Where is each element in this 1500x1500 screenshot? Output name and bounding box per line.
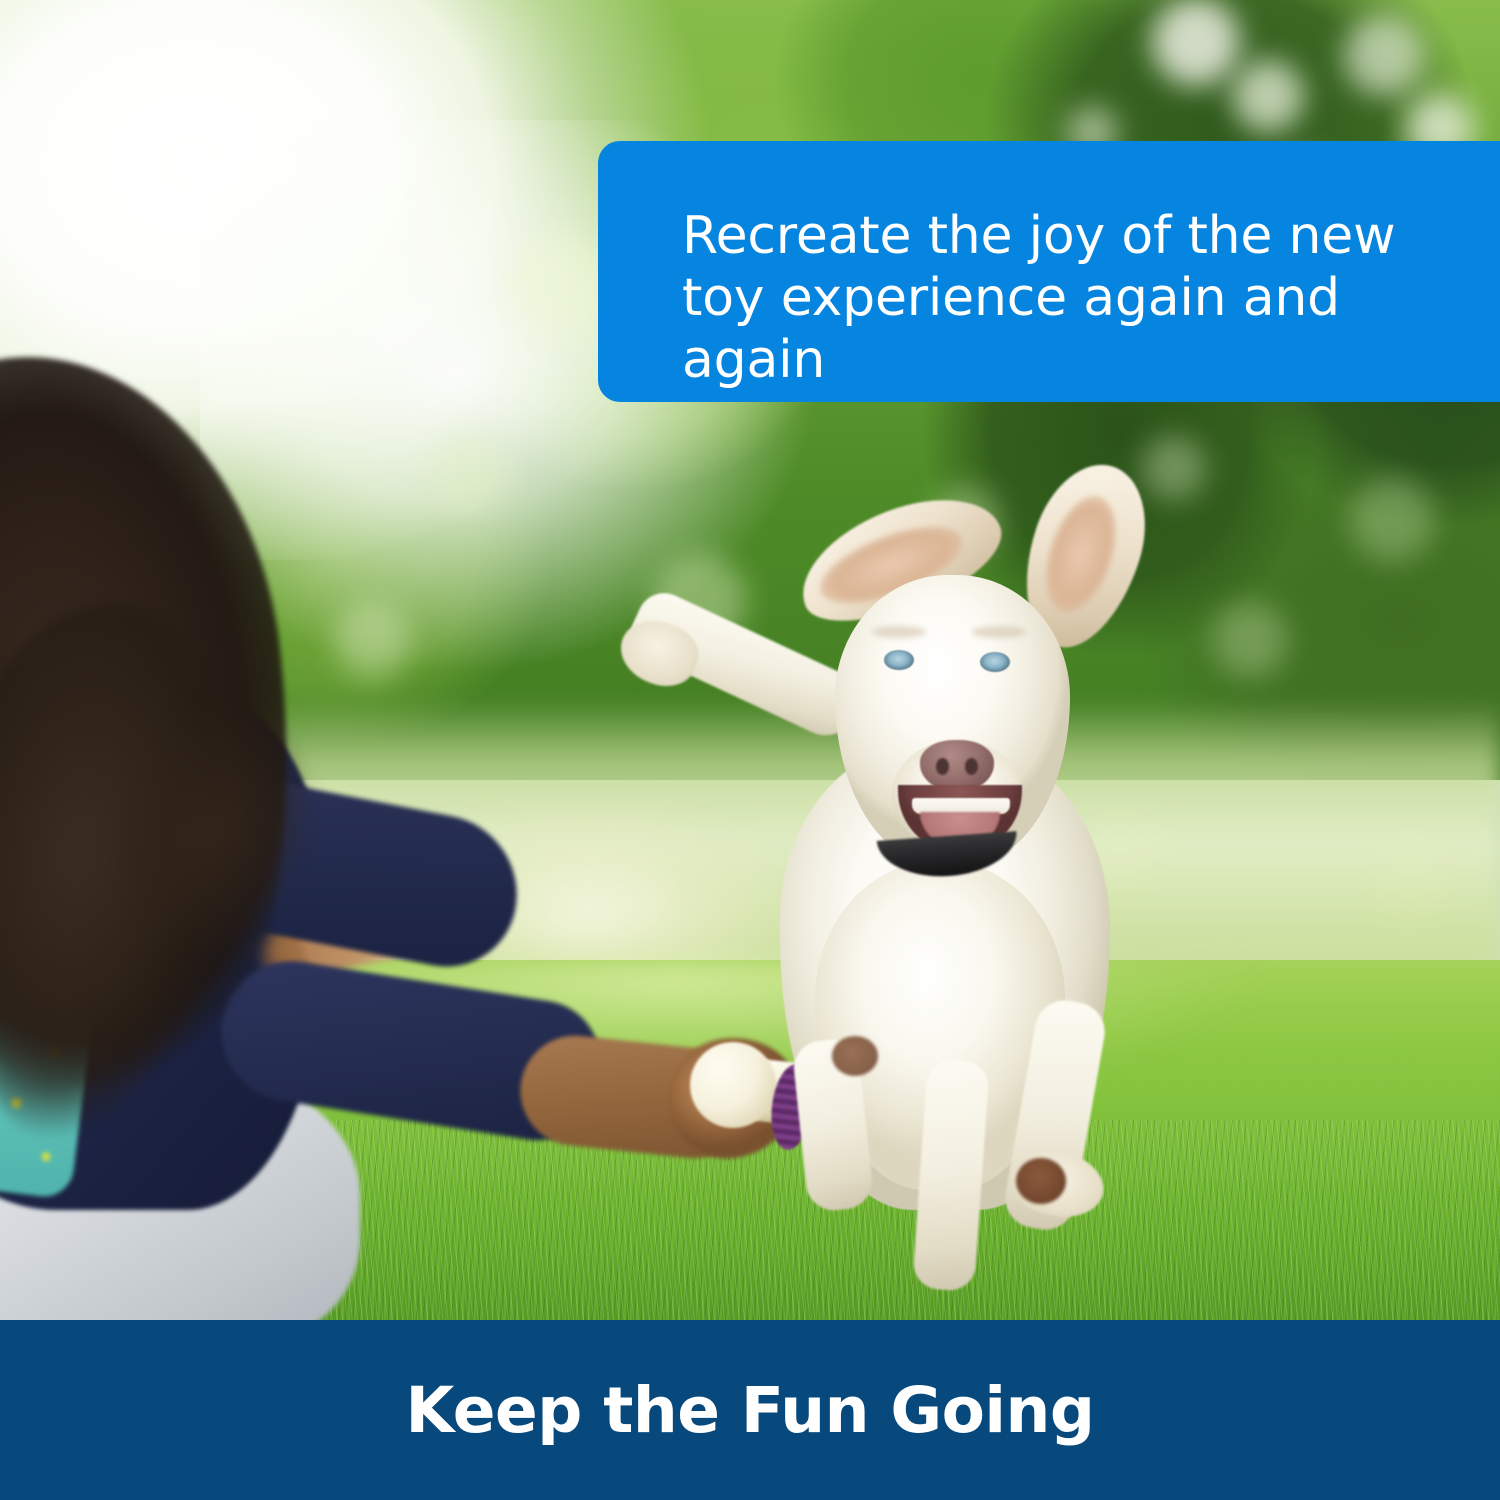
dog-paw-pad [1016, 1158, 1066, 1204]
banner-title: Keep the Fun Going [406, 1374, 1095, 1447]
callout-box: Recreate the joy of the new toy experien… [598, 141, 1500, 402]
callout-text: Recreate the joy of the new toy experien… [682, 205, 1460, 391]
running-dog [620, 440, 1260, 1320]
dog-brow-right [972, 626, 1026, 638]
dog-eye-right [980, 652, 1010, 672]
person-with-toy [0, 0, 640, 1320]
dog-nostril-right [965, 758, 978, 775]
dog-paw-pad-secondary [832, 1036, 878, 1076]
dog-brow-left [872, 626, 926, 638]
promo-graphic: Recreate the joy of the new toy experien… [0, 0, 1500, 1500]
dog-nostril-left [936, 758, 949, 775]
dog-eye-left [884, 650, 914, 670]
bottom-banner: Keep the Fun Going [0, 1320, 1500, 1500]
